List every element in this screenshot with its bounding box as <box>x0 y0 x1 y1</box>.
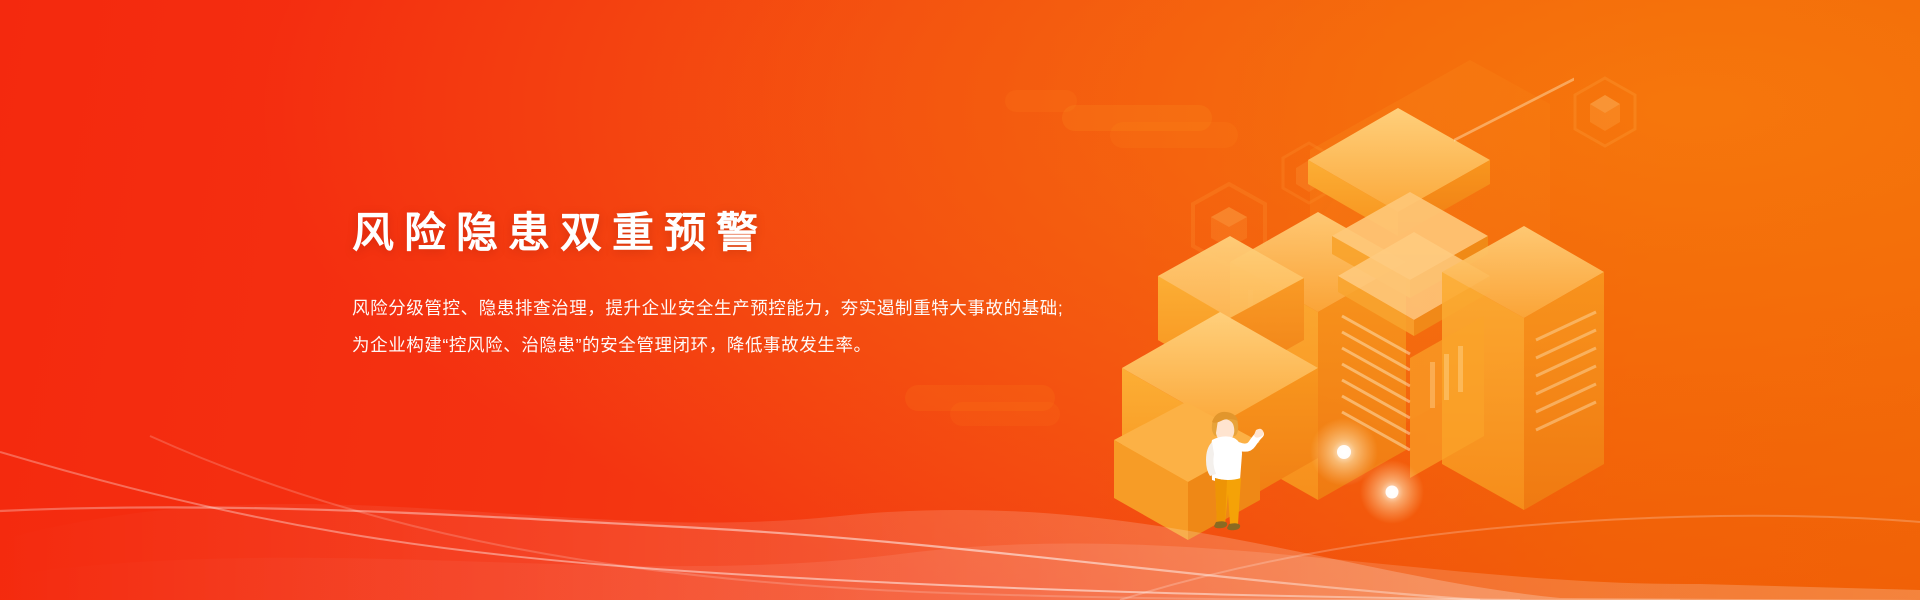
promo-banner: 风险隐患双重预警 风险分级管控、隐患排查治理，提升企业安全生产预控能力，夯实遏制… <box>0 0 1920 600</box>
wave-decor-layer <box>0 340 1920 600</box>
page-title: 风险隐患双重预警 <box>352 210 1282 256</box>
subtitle-line-1: 风险分级管控、隐患排查治理，提升企业安全生产预控能力，夯实遏制重特大事故的基础; <box>352 290 1282 327</box>
subtitle-line-2: 为企业构建“控风险、治隐患”的安全管理闭环，降低事故发生率。 <box>352 327 1282 364</box>
cloud-motif-icon <box>1005 90 1077 112</box>
banner-copy: 风险隐患双重预警 风险分级管控、隐患排查治理，提升企业安全生产预控能力，夯实遏制… <box>352 210 1282 364</box>
banner-subtitle: 风险分级管控、隐患排查治理，提升企业安全生产预控能力，夯实遏制重特大事故的基础;… <box>352 256 1282 364</box>
